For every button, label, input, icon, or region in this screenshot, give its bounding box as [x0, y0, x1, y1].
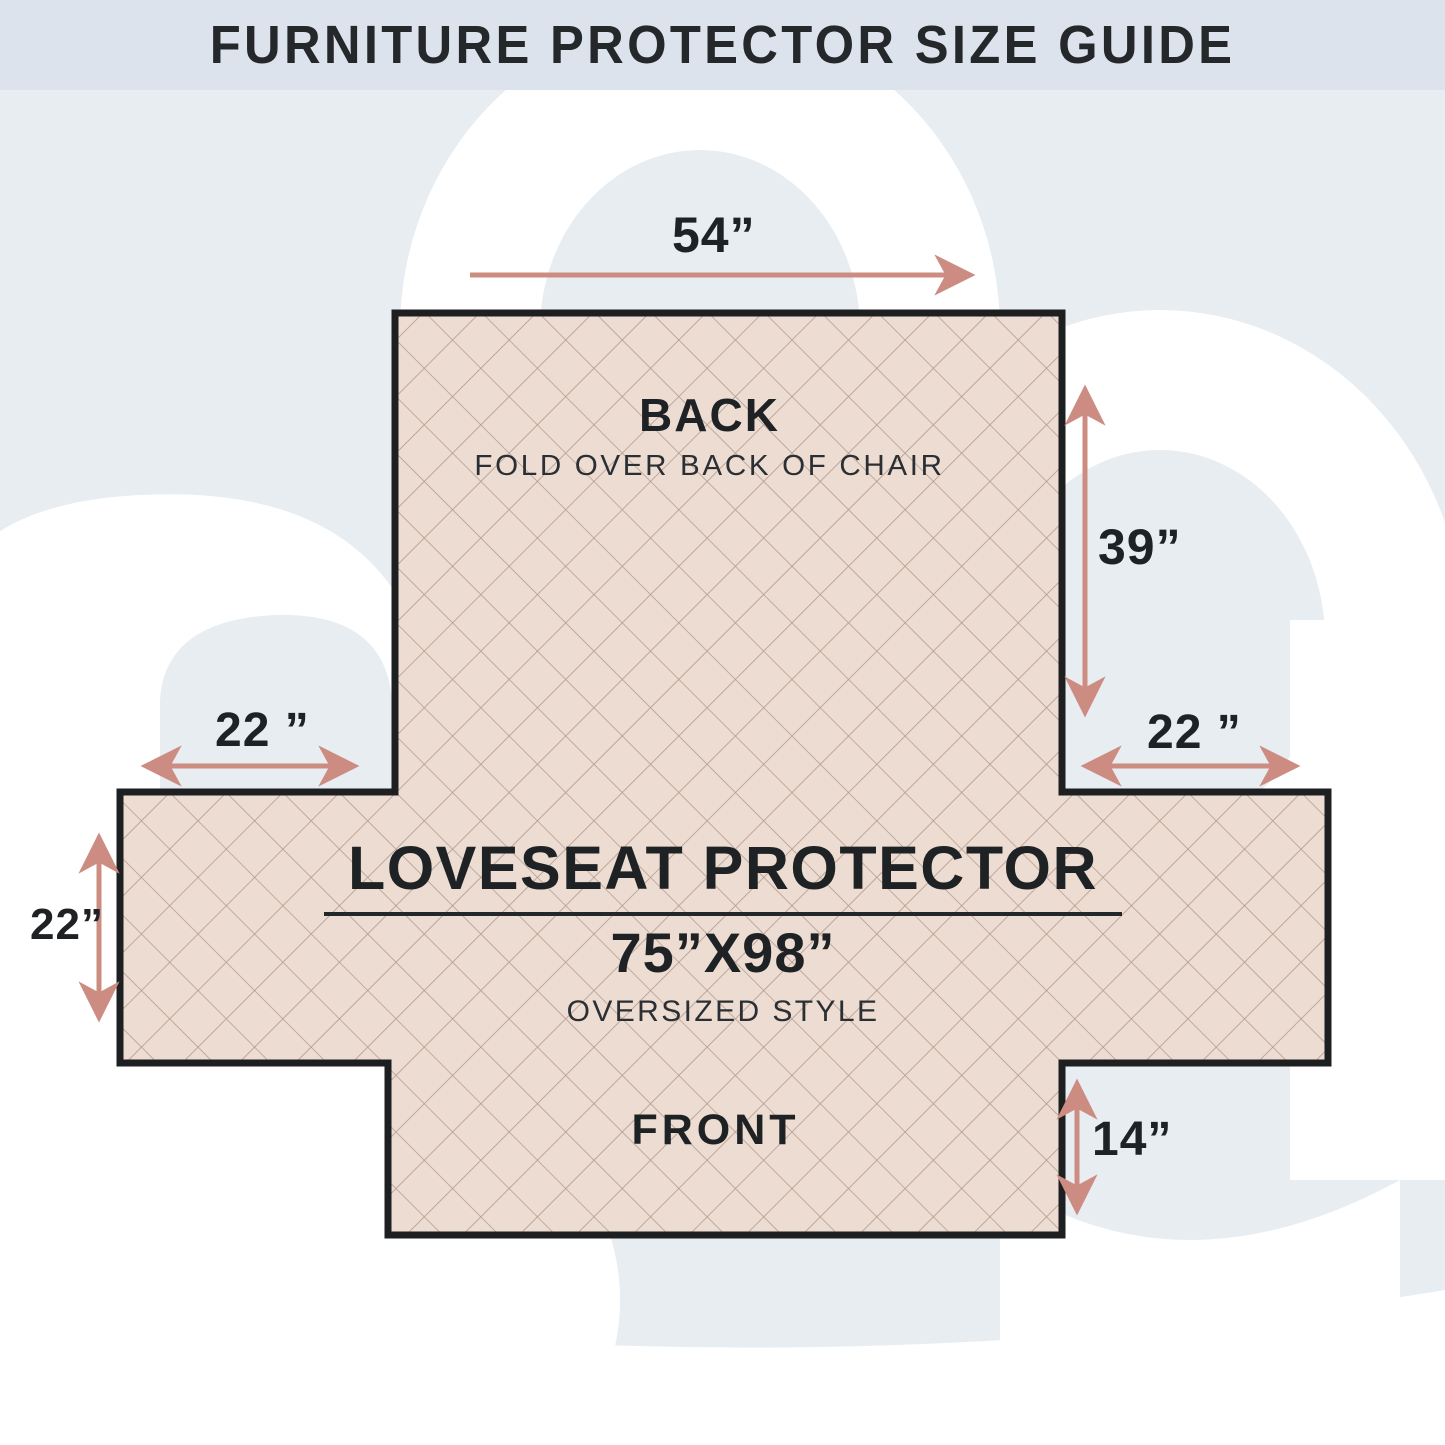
center-label-block: LOVESEAT PROTECTOR 75”X98” OVERSIZED STY… [318, 838, 1128, 1029]
dimension-label-left-arm-width: 22 ” [215, 703, 310, 758]
dimension-label-front-skirt-height: 14” [1092, 1112, 1172, 1167]
product-style: OVERSIZED STYLE [318, 995, 1128, 1029]
product-name: LOVESEAT PROTECTOR [318, 838, 1128, 899]
product-size: 75”X98” [318, 924, 1128, 983]
dimension-label-back-width: 54” [672, 206, 756, 264]
infographic-canvas: FURNITURE PROTECTOR SIZE GUIDE [0, 0, 1445, 1445]
panel-label-front: FRONT [0, 1106, 1438, 1155]
panel-sublabel-back: FOLD OVER BACK OF CHAIR [0, 450, 1445, 483]
dimension-label-right-arm-width: 22 ” [1147, 705, 1242, 760]
dimension-label-back-height: 39” [1098, 518, 1182, 576]
dimension-label-left-arm-height: 22” [30, 900, 104, 950]
panel-label-back: BACK [0, 388, 1432, 442]
divider [324, 912, 1122, 916]
